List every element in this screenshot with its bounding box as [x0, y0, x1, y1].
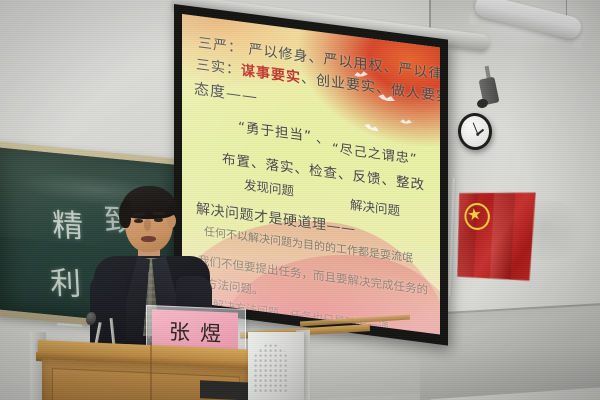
- flag-fold: [490, 192, 515, 282]
- speaker-grille: [254, 344, 288, 394]
- classroom-scene-photo: 精 致 利 己 一 三严： 严以修身、严以用权、严以律己 三实：谋事要实、创业要…: [0, 0, 600, 400]
- eye-right: [154, 218, 163, 222]
- eye-left: [134, 219, 143, 223]
- slide-heading-2-highlight: 谋事要实: [241, 63, 301, 87]
- eyebrow-right: [153, 212, 165, 215]
- slide-quote-1: “勇于担当”: [238, 115, 312, 145]
- communist-youth-league-flag: [455, 191, 535, 283]
- slide-text-block: 三严： 严以修身、严以用权、严以律己 三实：谋事要实、创业要实、做人要实 态度—…: [182, 14, 440, 335]
- chalk-character: 精: [51, 199, 86, 246]
- clock-face: [460, 115, 490, 148]
- slide-quote-separator: 、: [316, 127, 329, 148]
- slide-section-label: 态度——: [194, 78, 258, 107]
- nose: [144, 219, 151, 231]
- chalk-character: 一: [55, 304, 85, 345]
- podium-seam: [150, 342, 152, 400]
- mouth: [141, 236, 156, 242]
- projected-slide: 三严： 严以修身、严以用权、严以律己 三实：谋事要实、创业要实、做人要实 态度—…: [182, 14, 440, 335]
- clock-center-pin: [476, 133, 479, 136]
- slide-sub-right: 解决问题: [350, 194, 400, 219]
- slide-heading-2-label: 三实：: [196, 57, 241, 79]
- hair-sideburn: [119, 200, 131, 228]
- name-card-text: 张煜: [159, 315, 231, 348]
- chalk-character: 利: [49, 257, 84, 304]
- slide-sub-left: 发现问题: [244, 174, 294, 199]
